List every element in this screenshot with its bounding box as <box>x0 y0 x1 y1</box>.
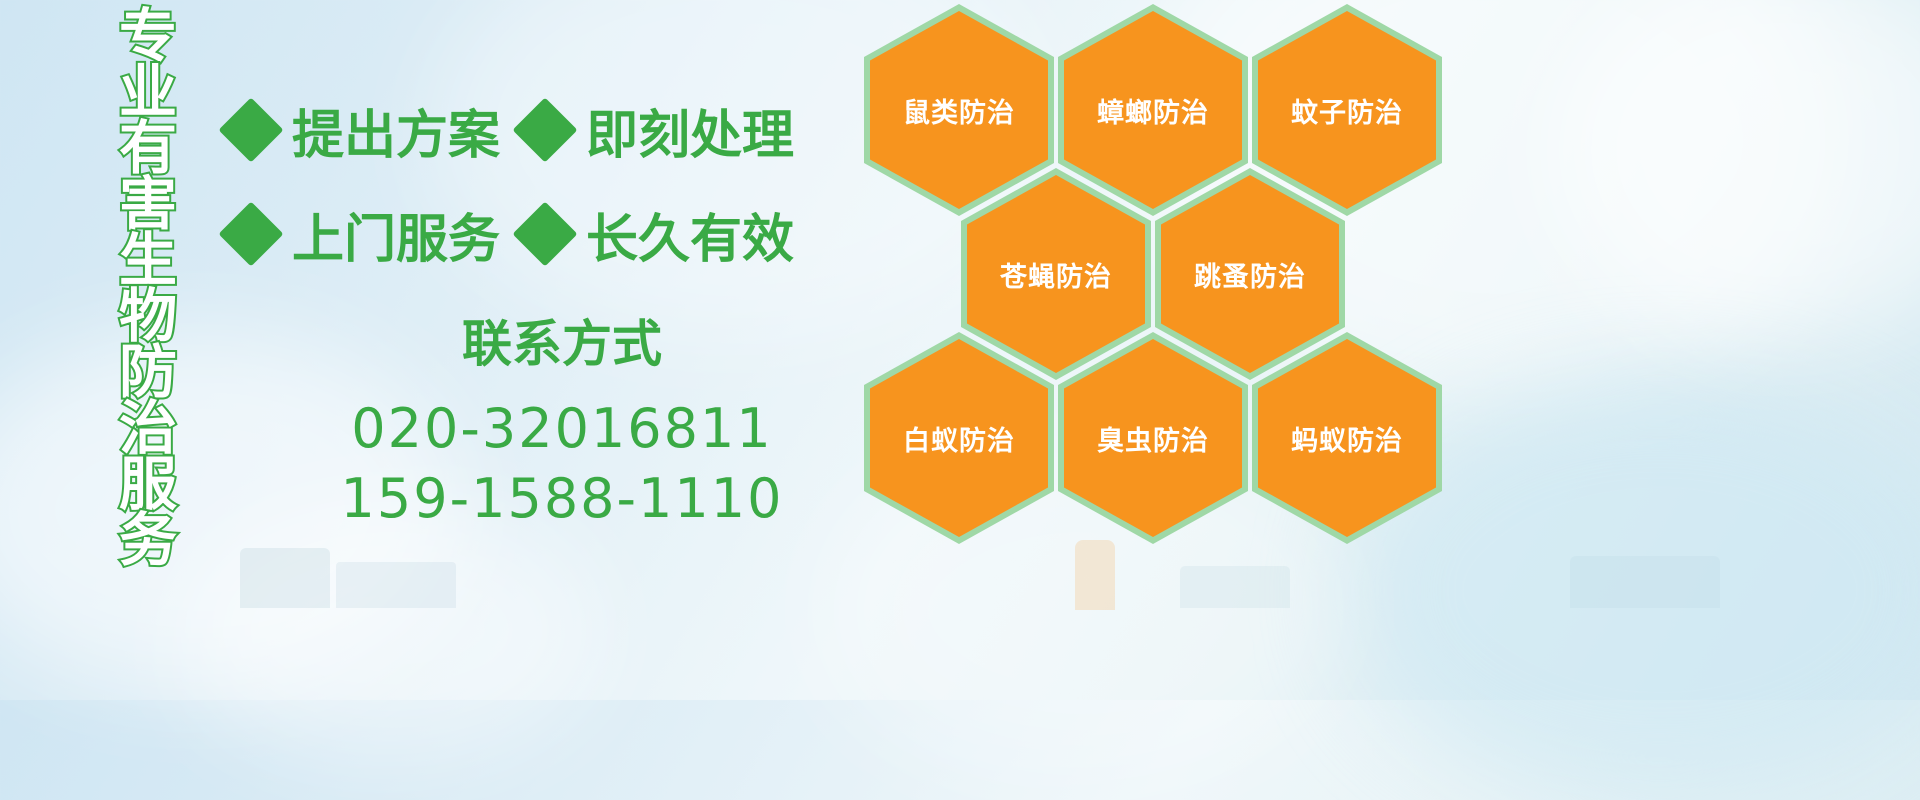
contact-phone-landline[interactable]: 020-32016811 <box>262 394 862 464</box>
feature-bullet-label: 上门服务 <box>292 197 500 272</box>
vertical-slogan-char: 防 <box>119 344 177 400</box>
service-hexagon-flea[interactable]: 跳蚤防治 <box>1155 168 1345 380</box>
hexagon-inner: 蚊子防治 <box>1258 11 1436 209</box>
service-hexagon-rodent[interactable]: 鼠类防治 <box>864 4 1054 216</box>
banner-canvas: 专 业 有 害 生 物 防 治 服 务 提出方案 即刻处理 上门服务 <box>0 0 1920 700</box>
service-label: 苍蝇防治 <box>1000 255 1112 294</box>
service-label: 鼠类防治 <box>903 91 1015 130</box>
service-label: 臭虫防治 <box>1097 419 1209 458</box>
feature-bullet: 上门服务 <box>228 197 500 272</box>
diamond-icon <box>218 97 283 162</box>
contact-phone-mobile[interactable]: 159-1588-1110 <box>262 464 862 534</box>
vertical-slogan-char: 生 <box>119 232 177 288</box>
service-label: 蚂蚁防治 <box>1291 419 1403 458</box>
feature-bullet-label: 长久有效 <box>586 197 794 272</box>
feature-bullet-label: 提出方案 <box>292 93 500 168</box>
service-hexagon-grid: 鼠类防治 蟑螂防治 蚊子防治 苍蝇防治 跳蚤防治 白蚁防治 <box>856 0 1456 578</box>
service-hexagon-mosquito[interactable]: 蚊子防治 <box>1252 4 1442 216</box>
contact-title: 联系方式 <box>262 316 862 374</box>
diamond-icon <box>512 201 577 266</box>
hexagon-inner: 蚂蚁防治 <box>1258 339 1436 537</box>
background-silhouette <box>1570 556 1720 608</box>
service-label: 跳蚤防治 <box>1194 255 1306 294</box>
hexagon-inner: 鼠类防治 <box>870 11 1048 209</box>
diamond-icon <box>218 201 283 266</box>
feature-bullet: 即刻处理 <box>522 93 794 168</box>
background-blob <box>1550 0 1920 340</box>
hexagon-inner: 跳蚤防治 <box>1161 175 1339 373</box>
service-hexagon-termite[interactable]: 白蚁防治 <box>864 332 1054 544</box>
feature-bullet-row: 上门服务 长久有效 <box>228 186 868 282</box>
feature-bullet-label: 即刻处理 <box>586 93 794 168</box>
service-hexagon-ant[interactable]: 蚂蚁防治 <box>1252 332 1442 544</box>
service-hexagon-fly[interactable]: 苍蝇防治 <box>961 168 1151 380</box>
vertical-slogan: 专 业 有 害 生 物 防 治 服 务 <box>96 8 200 580</box>
feature-bullet: 提出方案 <box>228 93 500 168</box>
vertical-slogan-char: 专 <box>119 8 177 64</box>
vertical-slogan-char: 有 <box>119 120 177 176</box>
feature-bullet-row: 提出方案 即刻处理 <box>228 82 868 178</box>
diamond-icon <box>512 97 577 162</box>
hexagon-inner: 苍蝇防治 <box>967 175 1145 373</box>
background-blob <box>180 500 600 760</box>
service-hexagon-cockroach[interactable]: 蟑螂防治 <box>1058 4 1248 216</box>
vertical-slogan-char: 害 <box>119 176 177 232</box>
vertical-slogan-char: 服 <box>119 456 177 512</box>
hexagon-inner: 白蚁防治 <box>870 339 1048 537</box>
service-label: 蚊子防治 <box>1291 91 1403 130</box>
service-label: 白蚁防治 <box>903 419 1015 458</box>
hexagon-inner: 蟑螂防治 <box>1064 11 1242 209</box>
vertical-slogan-char: 务 <box>119 512 177 568</box>
hexagon-inner: 臭虫防治 <box>1064 339 1242 537</box>
background-silhouette <box>240 548 330 608</box>
service-label: 蟑螂防治 <box>1097 91 1209 130</box>
vertical-slogan-char: 物 <box>119 288 177 344</box>
background-silhouette <box>336 562 456 608</box>
vertical-slogan-char: 治 <box>119 400 177 456</box>
contact-block: 联系方式 020-32016811 159-1588-1110 <box>262 316 862 534</box>
feature-bullets: 提出方案 即刻处理 上门服务 长久有效 <box>228 82 868 282</box>
vertical-slogan-char: 业 <box>119 64 177 120</box>
feature-bullet: 长久有效 <box>522 197 794 272</box>
service-hexagon-bedbug[interactable]: 臭虫防治 <box>1058 332 1248 544</box>
